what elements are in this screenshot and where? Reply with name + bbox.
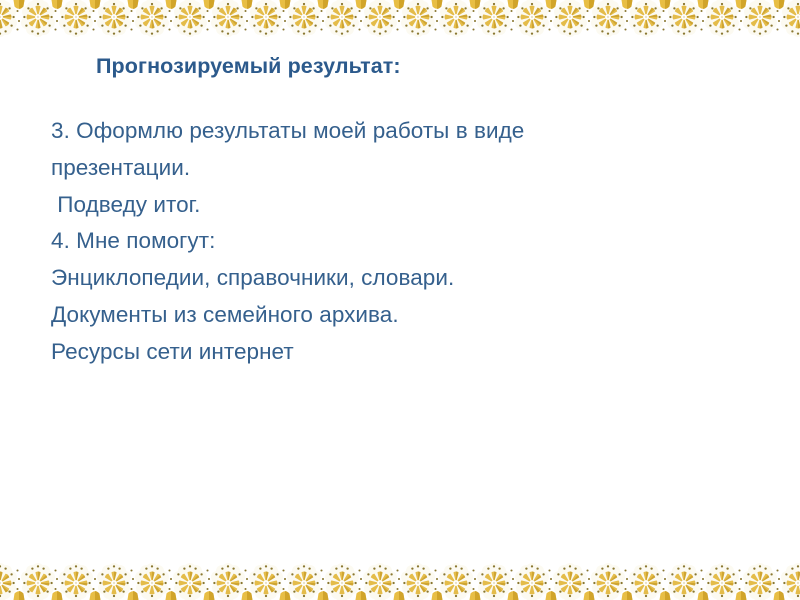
- body-line: 4. Мне помогут:: [51, 223, 751, 260]
- slide-body-text: 3. Оформлю результаты моей работы в виде…: [51, 113, 751, 371]
- body-line: Документы из семейного архива.: [51, 297, 751, 334]
- daisy-floral-border-bottom: [0, 558, 800, 600]
- daisy-border-graphic-bottom: [0, 558, 800, 600]
- daisy-border-graphic-top: [0, 0, 800, 42]
- body-line: Ресурсы сети интернет: [51, 334, 751, 371]
- body-line: 3. Оформлю результаты моей работы в виде: [51, 113, 751, 150]
- body-line: презентации.: [51, 150, 751, 187]
- body-line: Энциклопедии, справочники, словари.: [51, 260, 751, 297]
- body-line: Подведу итог.: [51, 187, 751, 224]
- daisy-floral-border-top: [0, 0, 800, 42]
- slide-title: Прогнозируемый результат:: [96, 54, 401, 79]
- presentation-slide: Прогнозируемый результат: 3. Оформлю рез…: [0, 0, 800, 600]
